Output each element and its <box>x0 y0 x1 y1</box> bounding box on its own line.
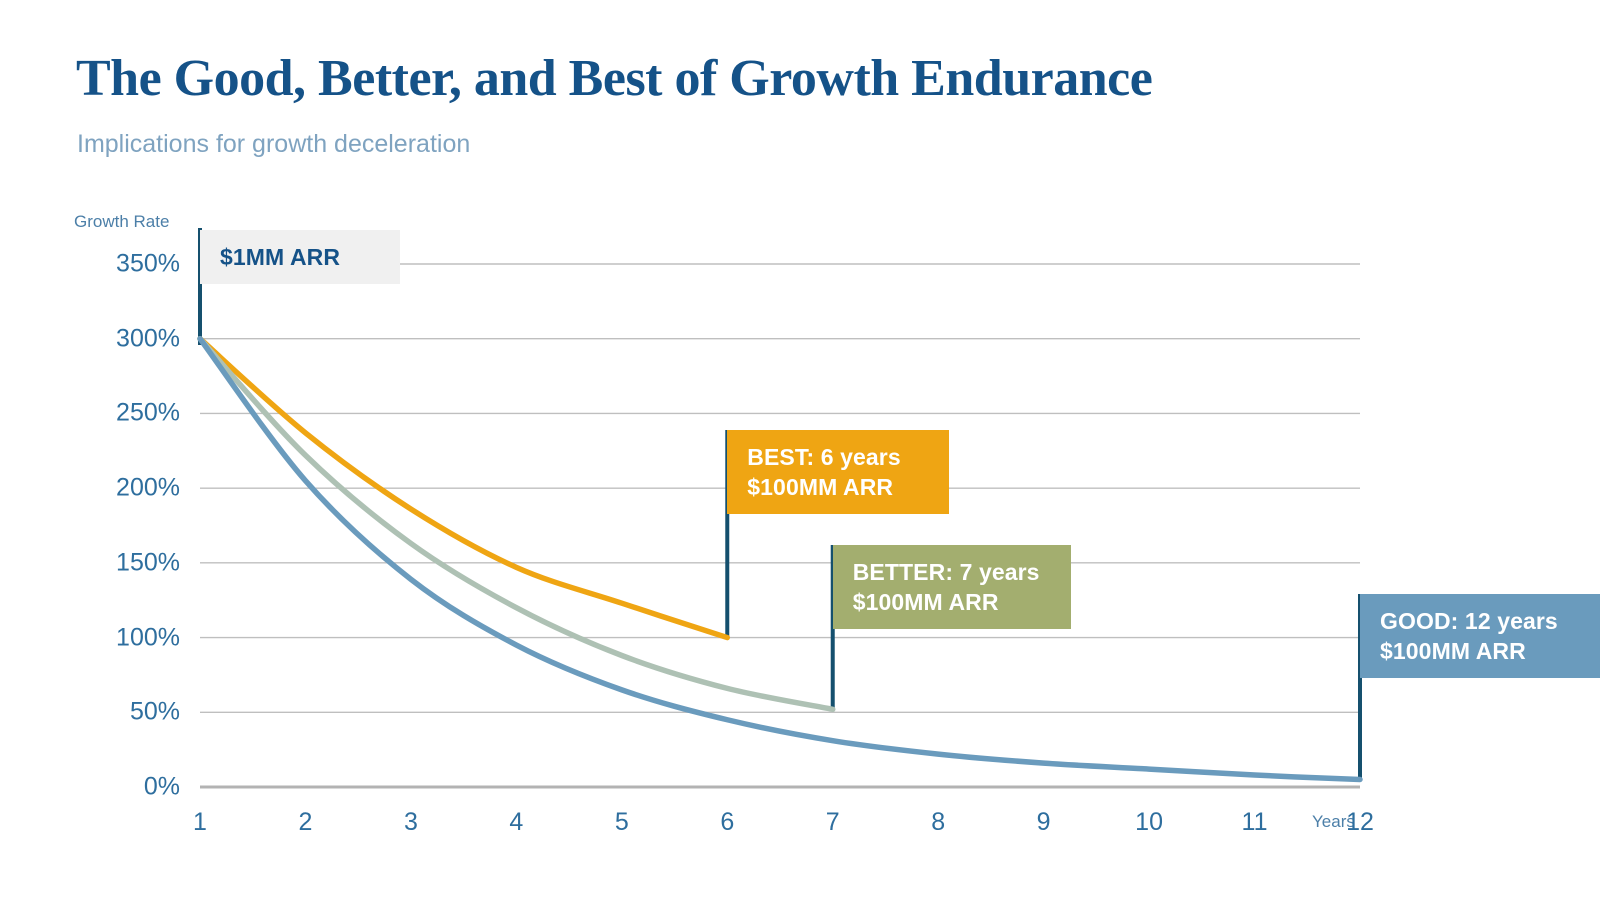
x-tick-label: 9 <box>1014 808 1074 837</box>
x-tick-label: 2 <box>275 808 335 837</box>
callout-best: BEST: 6 years $100MM ARR <box>727 430 949 514</box>
y-tick-label: 0% <box>60 773 180 802</box>
callout-good: GOOD: 12 years $100MM ARR <box>1360 594 1600 678</box>
x-tick-label: 6 <box>697 808 757 837</box>
x-tick-label: 7 <box>803 808 863 837</box>
x-tick-label: 12 <box>1330 808 1390 837</box>
x-tick-label: 8 <box>908 808 968 837</box>
y-tick-label: 150% <box>60 548 180 577</box>
slide-canvas: The Good, Better, and Best of Growth End… <box>0 0 1600 900</box>
x-tick-label: 4 <box>486 808 546 837</box>
growth-endurance-chart: Growth Rate Years 0%50%100%150%200%250%3… <box>0 0 1600 900</box>
x-tick-label: 11 <box>1225 808 1285 837</box>
y-tick-label: 100% <box>60 623 180 652</box>
callout-start-arr: $1MM ARR <box>200 230 400 284</box>
series-curves <box>200 339 1360 780</box>
y-tick-label: 250% <box>60 399 180 428</box>
y-tick-label: 50% <box>60 698 180 727</box>
x-tick-label: 3 <box>381 808 441 837</box>
callout-better: BETTER: 7 years $100MM ARR <box>833 545 1071 629</box>
y-tick-label: 200% <box>60 474 180 503</box>
y-tick-label: 350% <box>60 250 180 279</box>
y-tick-label: 300% <box>60 324 180 353</box>
x-tick-label: 5 <box>592 808 652 837</box>
x-tick-label: 10 <box>1119 808 1179 837</box>
x-tick-label: 1 <box>170 808 230 837</box>
